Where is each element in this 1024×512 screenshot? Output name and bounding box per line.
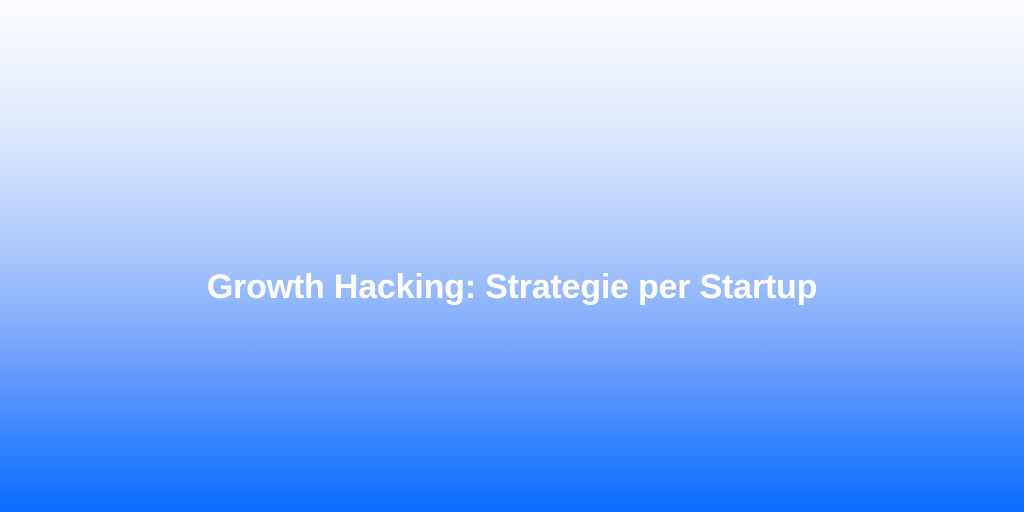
page-title: Growth Hacking: Strategie per Startup: [207, 267, 817, 307]
hero-content: Growth Hacking: Strategie per Startup: [0, 267, 1024, 307]
hero-banner: Growth Hacking: Strategie per Startup: [0, 0, 1024, 512]
